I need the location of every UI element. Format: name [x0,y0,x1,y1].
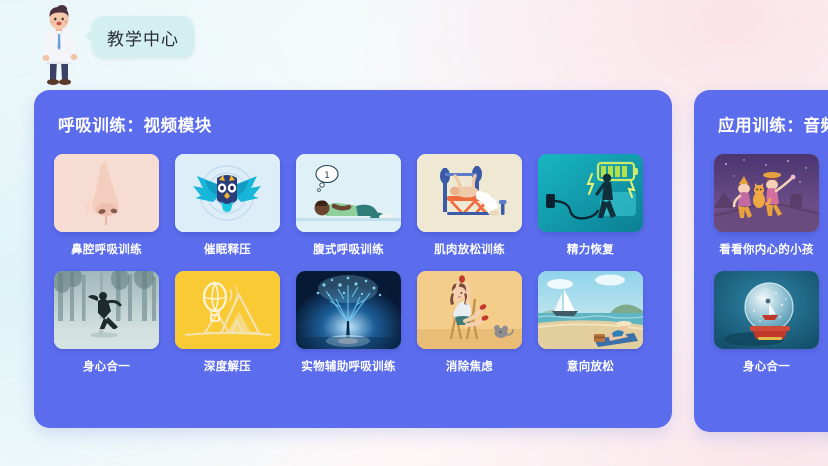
panel-audio-modules: 应用训练：音频模块 [694,90,828,432]
card-imagery-relaxation[interactable]: 意向放松 [538,271,643,374]
card-label: 意向放松 [567,358,614,374]
snow-globe-illustration [714,271,819,349]
teaching-center-label: 教学中心 [107,25,179,50]
beach-sailboat-illustration [538,271,643,349]
card-label: 腹式呼吸训练 [313,241,384,257]
panel-title-video: 呼吸训练：视频模块 [58,112,652,136]
audio-card-grid: 看看你内心的小孩 [714,154,828,374]
card-anxiety-relief[interactable]: 消除焦虑 [417,271,522,374]
teaching-center-bubble[interactable]: 教学中心 [92,16,194,58]
nose-illustration [54,154,159,232]
card-deep-decompression[interactable]: 深度解压 [175,271,280,374]
card-label: 肌肉放松训练 [434,241,505,257]
card-label: 消除焦虑 [446,358,493,374]
card-inner-child[interactable]: 看看你内心的小孩 [714,154,819,257]
video-card-grid: 鼻腔呼吸训练 [54,154,652,374]
card-label: 鼻腔呼吸训练 [71,241,142,257]
doctor-avatar [28,4,90,88]
forest-dancer-illustration [54,271,159,349]
card-label: 看看你内心的小孩 [719,241,813,257]
card-energy-recovery[interactable]: 精力恢复 [538,154,643,257]
card-nasal-breathing[interactable]: 鼻腔呼吸训练 [54,154,159,257]
woman-chair-mouse-illustration [417,271,522,349]
card-muscle-relaxation[interactable]: 肌肉放松训练 [417,154,522,257]
card-object-assisted-breathing[interactable]: 实物辅助呼吸训练 [296,271,401,374]
bench-press-illustration [417,154,522,232]
owl-illustration [175,154,280,232]
card-mind-body-unity[interactable]: 身心合一 [54,271,159,374]
panel-title-audio: 应用训练：音频模块 [718,112,828,136]
battery-charge-illustration [538,154,643,232]
svg-text:1: 1 [324,171,330,181]
card-label: 深度解压 [204,358,251,374]
card-label: 实物辅助呼吸训练 [301,358,395,374]
lying-person-illustration: 1 [296,154,401,232]
card-mind-body-unity-audio[interactable]: 身心合一 [714,271,819,374]
card-abdominal-breathing[interactable]: 1 [296,154,401,257]
page-header: 教学中心 [0,0,828,90]
panel-video-modules: 呼吸训练：视频模块 鼻腔呼吸训练 [34,90,672,428]
card-label: 身心合一 [83,358,130,374]
card-hypnosis-relief[interactable]: 催眠释压 [175,154,280,257]
card-label: 身心合一 [743,358,790,374]
blue-tree-illustration [296,271,401,349]
hot-air-balloon-illustration [175,271,280,349]
card-label: 精力恢复 [567,241,614,257]
card-label: 催眠释压 [204,241,251,257]
kids-on-roof-illustration [714,154,819,232]
module-panels: 呼吸训练：视频模块 鼻腔呼吸训练 [34,90,828,432]
